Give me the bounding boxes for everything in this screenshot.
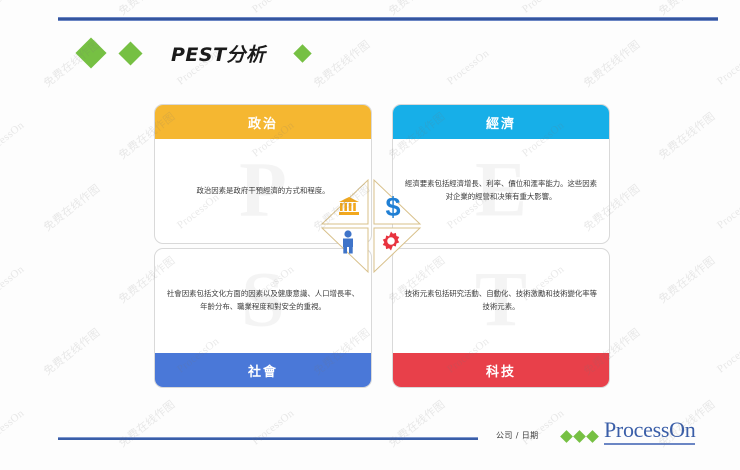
person-icon bbox=[340, 230, 366, 256]
watermark-text: ProcessOn bbox=[520, 0, 567, 15]
watermark-text: ProcessOn bbox=[520, 407, 567, 447]
diamond-icon bbox=[573, 430, 586, 443]
watermark-text: ProcessOn bbox=[0, 263, 27, 303]
watermark-text: ProcessOn bbox=[715, 335, 740, 375]
diamond-icon bbox=[293, 44, 311, 62]
watermark-text: ProcessOn bbox=[0, 0, 27, 15]
diamond-icon bbox=[75, 37, 106, 68]
center-diamond: $ bbox=[310, 176, 432, 276]
quadrant-social-text: 社會因素包括文化方面的因素以及健康意識、人口增長率、年齡分布、職業程度和對安全的… bbox=[165, 288, 361, 314]
watermark-text: 免费在线作图 bbox=[40, 324, 103, 378]
diamond-icon bbox=[586, 430, 599, 443]
watermark-text: ProcessOn bbox=[250, 407, 297, 447]
watermark-text: 免费在线作图 bbox=[115, 396, 178, 450]
watermark-text: 免费在线作图 bbox=[385, 396, 448, 450]
watermark-text: ProcessOn bbox=[715, 47, 740, 87]
slide-canvas: PEST分析 政治 P 政治因素是政府干預經濟的方式和程度。 經濟 E 經濟要素… bbox=[0, 0, 740, 470]
footer-rule bbox=[58, 437, 478, 440]
quadrant-economic-text: 經濟要素包括經濟增長、利率、價位和滙率能力。这些因素对企業的經營和决策有重大影響… bbox=[403, 178, 599, 204]
dollar-glyph: $ bbox=[385, 194, 400, 221]
brand-logo: ProcessOn bbox=[604, 418, 695, 445]
quadrant-political-label: 政治 bbox=[155, 105, 371, 139]
watermark-text: 免费在线作图 bbox=[40, 180, 103, 234]
quadrant-technological-text: 技術元素包括研究活動、自動化、技術激勵和技術變化率等技術元素。 bbox=[403, 288, 599, 314]
watermark-text: ProcessOn bbox=[715, 191, 740, 231]
diamond-icon bbox=[118, 41, 142, 65]
gear-icon bbox=[380, 230, 406, 256]
diamond-icon bbox=[560, 430, 573, 443]
quadrant-social-label: 社會 bbox=[155, 353, 371, 387]
footer-diamonds bbox=[562, 432, 597, 441]
title-row: PEST分析 bbox=[80, 36, 640, 70]
currency-icon: $ bbox=[380, 194, 406, 220]
watermark-text: ProcessOn bbox=[0, 119, 27, 159]
watermark-text: 免费在线作图 bbox=[655, 0, 718, 19]
page-title: PEST分析 bbox=[171, 40, 266, 67]
government-icon bbox=[338, 196, 364, 222]
quadrant-economic-label: 經濟 bbox=[393, 105, 609, 139]
watermark-text: 免费在线作图 bbox=[655, 108, 718, 162]
watermark-text: ProcessOn bbox=[250, 0, 297, 15]
watermark-text: 免费在线作图 bbox=[115, 0, 178, 19]
center-diamond-shape bbox=[310, 176, 432, 276]
quadrant-technological-label: 科技 bbox=[393, 353, 609, 387]
watermark-text: 免费在线作图 bbox=[385, 0, 448, 19]
watermark-text: ProcessOn bbox=[0, 407, 27, 447]
header-rule bbox=[58, 17, 718, 21]
footer-company-date: 公司 / 日期 bbox=[496, 430, 539, 441]
watermark-text: 免费在线作图 bbox=[655, 252, 718, 306]
